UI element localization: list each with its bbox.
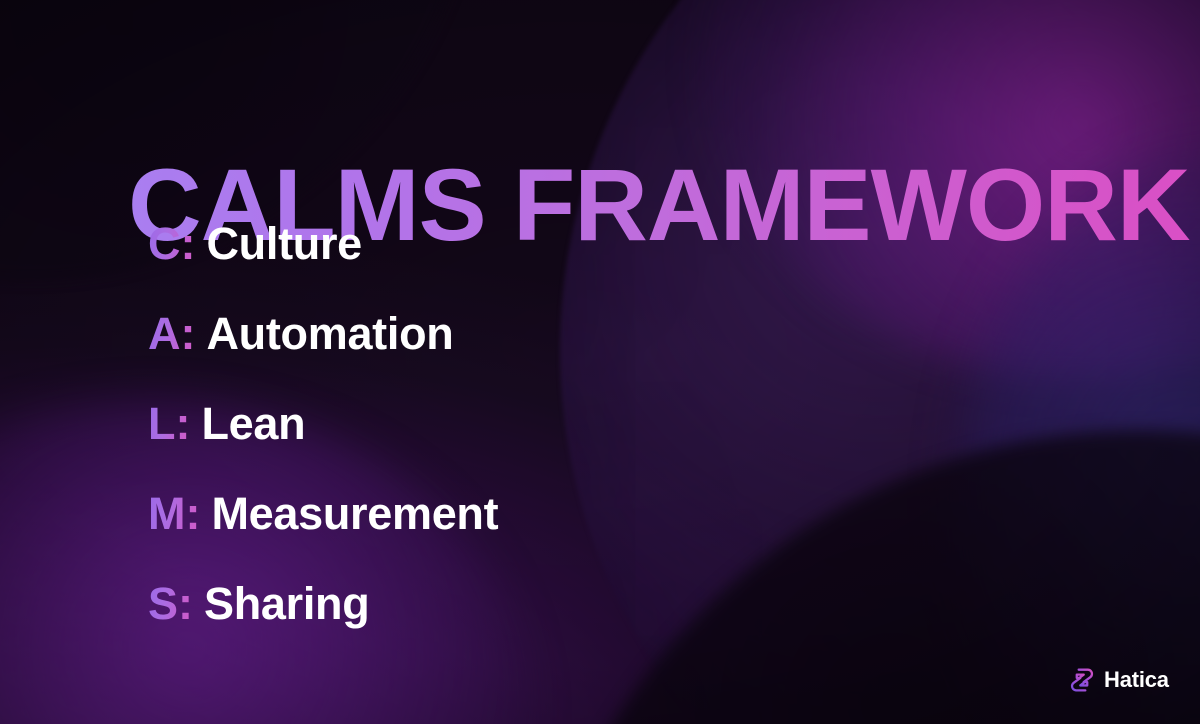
- list-item-value-m: Measurement: [211, 488, 498, 540]
- list-item-value-c: Culture: [206, 218, 361, 270]
- hatica-logo: Hatica: [1068, 666, 1169, 694]
- list-item-key-c: C:: [148, 218, 195, 270]
- list-item-key-s: S:: [148, 578, 193, 630]
- list-item-value-s: Sharing: [204, 578, 369, 630]
- slide-content: CALMS FRAMEWORK C: Culture A: Automation…: [0, 0, 1200, 724]
- hatica-arrow-mark-icon: [1068, 666, 1096, 694]
- calms-acronym-list: C: Culture A: Automation L: Lean M: Meas…: [148, 218, 498, 668]
- list-item-culture: C: Culture: [148, 218, 498, 308]
- list-item-key-l: L:: [148, 398, 190, 450]
- hatica-wordmark: Hatica: [1104, 669, 1169, 691]
- list-item-key-a: A:: [148, 308, 195, 360]
- list-item-key-m: M:: [148, 488, 200, 540]
- list-item-measurement: M: Measurement: [148, 488, 498, 578]
- list-item-lean: L: Lean: [148, 398, 498, 488]
- calms-framework-slide: CALMS FRAMEWORK C: Culture A: Automation…: [0, 0, 1200, 724]
- list-item-value-a: Automation: [206, 308, 453, 360]
- list-item-value-l: Lean: [201, 398, 305, 450]
- list-item-automation: A: Automation: [148, 308, 498, 398]
- list-item-sharing: S: Sharing: [148, 578, 498, 668]
